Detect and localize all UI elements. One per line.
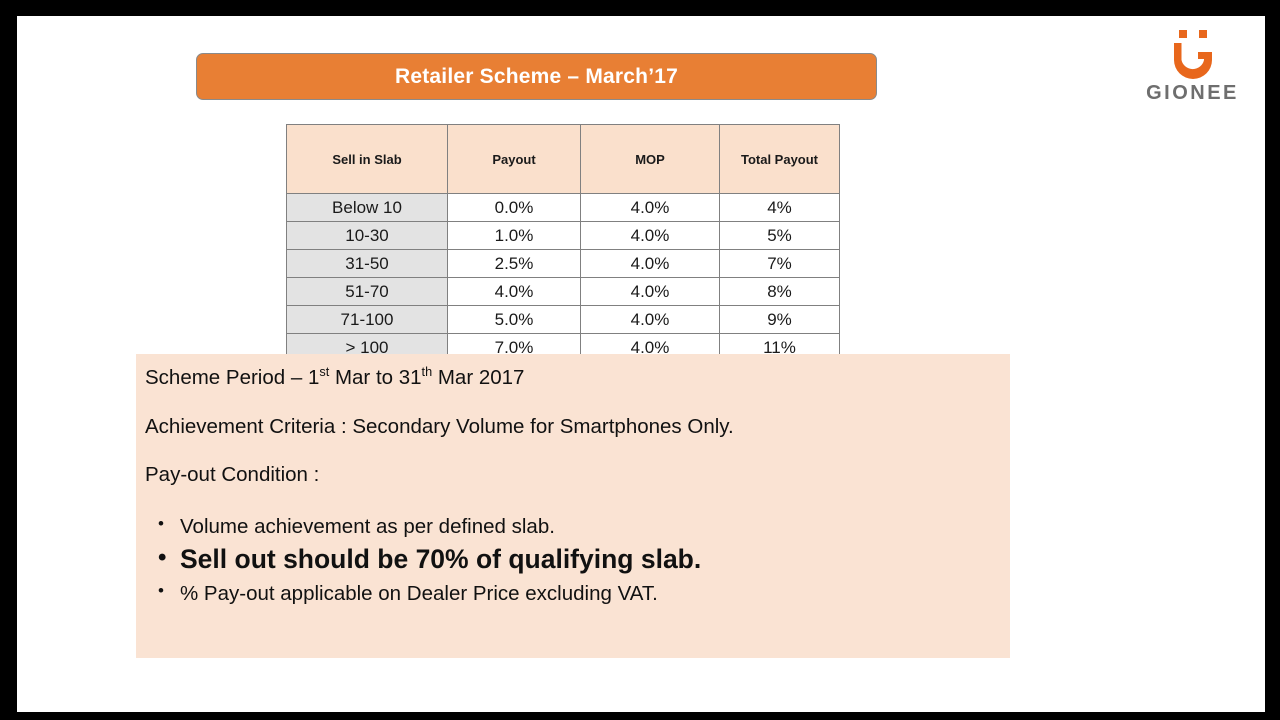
cell-mop: 4.0% <box>581 194 720 222</box>
cell-slab: 31-50 <box>287 250 448 278</box>
cell-slab: 71-100 <box>287 306 448 334</box>
cell-payout: 2.5% <box>448 250 581 278</box>
slide-title-banner: Retailer Scheme – March’17 <box>196 53 877 100</box>
cell-payout: 0.0% <box>448 194 581 222</box>
cell-total: 8% <box>720 278 840 306</box>
column-header-mop: MOP <box>581 125 720 194</box>
gionee-logo: GIONEE <box>1130 30 1255 103</box>
column-header-total-payout: Total Payout <box>720 125 840 194</box>
cell-total: 4% <box>720 194 840 222</box>
scheme-period-middle: Mar to 31 <box>329 366 421 389</box>
column-header-payout: Payout <box>448 125 581 194</box>
scheme-period-prefix: Scheme Period – 1 <box>145 366 319 389</box>
cell-total: 7% <box>720 250 840 278</box>
cell-mop: 4.0% <box>581 250 720 278</box>
list-item-label: % Pay-out applicable on Dealer Price exc… <box>180 582 658 605</box>
gionee-g-icon <box>1170 30 1216 80</box>
scheme-period-suffix: Mar 2017 <box>432 366 524 389</box>
cell-slab: 51-70 <box>287 278 448 306</box>
page-title: Retailer Scheme – March’17 <box>395 65 678 89</box>
cell-total: 9% <box>720 306 840 334</box>
table-row: 71-100 5.0% 4.0% 9% <box>287 306 840 334</box>
cell-mop: 4.0% <box>581 222 720 250</box>
cell-mop: 4.0% <box>581 278 720 306</box>
scheme-period-line: Scheme Period – 1st Mar to 31th Mar 2017 <box>145 366 1010 390</box>
list-item: • Volume achievement as per defined slab… <box>145 512 1010 542</box>
scheme-slab-table: Sell in Slab Payout MOP Total Payout Bel… <box>286 124 840 362</box>
slide-canvas: Retailer Scheme – March’17 GIONEE Sell i… <box>17 16 1265 712</box>
list-item-label: Sell out should be 70% of qualifying sla… <box>180 544 701 574</box>
bullet-icon: • <box>158 512 164 537</box>
column-header-sell-in-slab: Sell in Slab <box>287 125 448 194</box>
scheme-period-sup-start: st <box>319 364 329 379</box>
cell-slab: 10-30 <box>287 222 448 250</box>
bullet-icon: • <box>158 541 166 575</box>
table-row: 51-70 4.0% 4.0% 8% <box>287 278 840 306</box>
cell-total: 5% <box>720 222 840 250</box>
gionee-wordmark: GIONEE <box>1130 83 1255 103</box>
table-header-row: Sell in Slab Payout MOP Total Payout <box>287 125 840 194</box>
table-row: 31-50 2.5% 4.0% 7% <box>287 250 840 278</box>
cell-payout: 4.0% <box>448 278 581 306</box>
bullet-icon: • <box>158 579 164 604</box>
scheme-conditions-panel: Scheme Period – 1st Mar to 31th Mar 2017… <box>136 354 1010 658</box>
achievement-criteria-line: Achievement Criteria : Secondary Volume … <box>145 415 1010 439</box>
scheme-period-sup-end: th <box>422 364 433 379</box>
cell-payout: 5.0% <box>448 306 581 334</box>
list-item: • Sell out should be 70% of qualifying s… <box>145 541 1010 579</box>
cell-mop: 4.0% <box>581 306 720 334</box>
list-item-label: Volume achievement as per defined slab. <box>180 515 555 538</box>
payout-condition-heading: Pay-out Condition : <box>145 463 1010 487</box>
list-item: • % Pay-out applicable on Dealer Price e… <box>145 579 1010 609</box>
cell-payout: 1.0% <box>448 222 581 250</box>
payout-condition-bullets: • Volume achievement as per defined slab… <box>145 512 1010 609</box>
table-row: 10-30 1.0% 4.0% 5% <box>287 222 840 250</box>
table-row: Below 10 0.0% 4.0% 4% <box>287 194 840 222</box>
cell-slab: Below 10 <box>287 194 448 222</box>
